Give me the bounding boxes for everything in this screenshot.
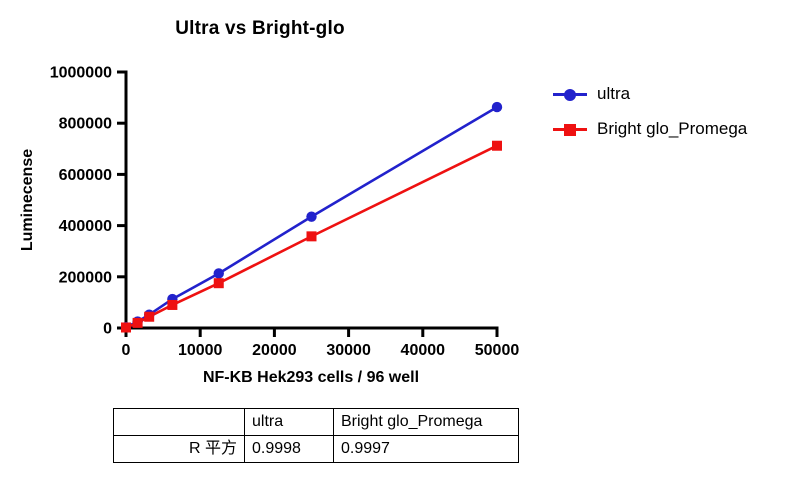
y-tick-label: 400000 xyxy=(59,218,112,235)
table-row: R 平方 0.9998 0.9997 xyxy=(114,436,519,463)
y-axis-title: Luminecense xyxy=(19,149,36,251)
x-tick-label: 0 xyxy=(122,342,131,359)
table-cell-r2-ultra: 0.9998 xyxy=(245,436,334,463)
data-point-0-4 xyxy=(214,268,224,278)
legend-item-ultra[interactable]: ultra xyxy=(553,84,630,104)
table-corner-cell xyxy=(114,409,245,436)
y-tick-label: 800000 xyxy=(59,116,112,133)
x-tick-label: 20000 xyxy=(252,342,297,359)
series-group xyxy=(121,102,502,333)
data-point-1-6 xyxy=(492,141,502,151)
x-tick-label: 10000 xyxy=(178,342,223,359)
data-point-1-2 xyxy=(144,312,154,322)
data-point-1-4 xyxy=(214,278,224,288)
circle-marker-icon xyxy=(553,86,587,102)
table-header-ultra: ultra xyxy=(245,409,334,436)
table-row-label-r-squared: R 平方 xyxy=(114,436,245,463)
y-tick-label: 600000 xyxy=(59,167,112,184)
plot-area: 0200000400000600000800000100000001000020… xyxy=(0,0,796,478)
x-tick-label: 50000 xyxy=(475,342,520,359)
data-point-1-0 xyxy=(121,322,131,332)
legend-label-ultra: ultra xyxy=(597,84,630,104)
r-squared-table: ultra Bright glo_Promega R 平方 0.9998 0.9… xyxy=(113,408,519,463)
data-point-1-3 xyxy=(167,300,177,310)
x-axis-title: NF-KB Hek293 cells / 96 well xyxy=(203,369,419,386)
data-point-0-6 xyxy=(492,102,502,112)
y-tick-label: 0 xyxy=(103,321,112,338)
x-tick-label: 40000 xyxy=(401,342,446,359)
axes-group: 0200000400000600000800000100000001000020… xyxy=(50,65,520,360)
table-header-row: ultra Bright glo_Promega xyxy=(114,409,519,436)
square-marker-icon xyxy=(553,121,587,137)
legend-label-bright-glo-promega: Bright glo_Promega xyxy=(597,119,747,139)
legend-item-bright-glo-promega[interactable]: Bright glo_Promega xyxy=(553,119,747,139)
data-point-1-1 xyxy=(133,318,143,328)
table-cell-r2-bright-glo-promega: 0.9997 xyxy=(334,436,519,463)
y-tick-label: 200000 xyxy=(59,269,112,286)
table-header-bright-glo-promega: Bright glo_Promega xyxy=(334,409,519,436)
data-point-1-5 xyxy=(307,231,317,241)
chart-page: Ultra vs Bright-glo 02000004000006000008… xyxy=(0,0,796,478)
y-tick-label: 1000000 xyxy=(50,65,112,82)
data-point-0-5 xyxy=(306,211,316,221)
x-tick-label: 30000 xyxy=(326,342,371,359)
